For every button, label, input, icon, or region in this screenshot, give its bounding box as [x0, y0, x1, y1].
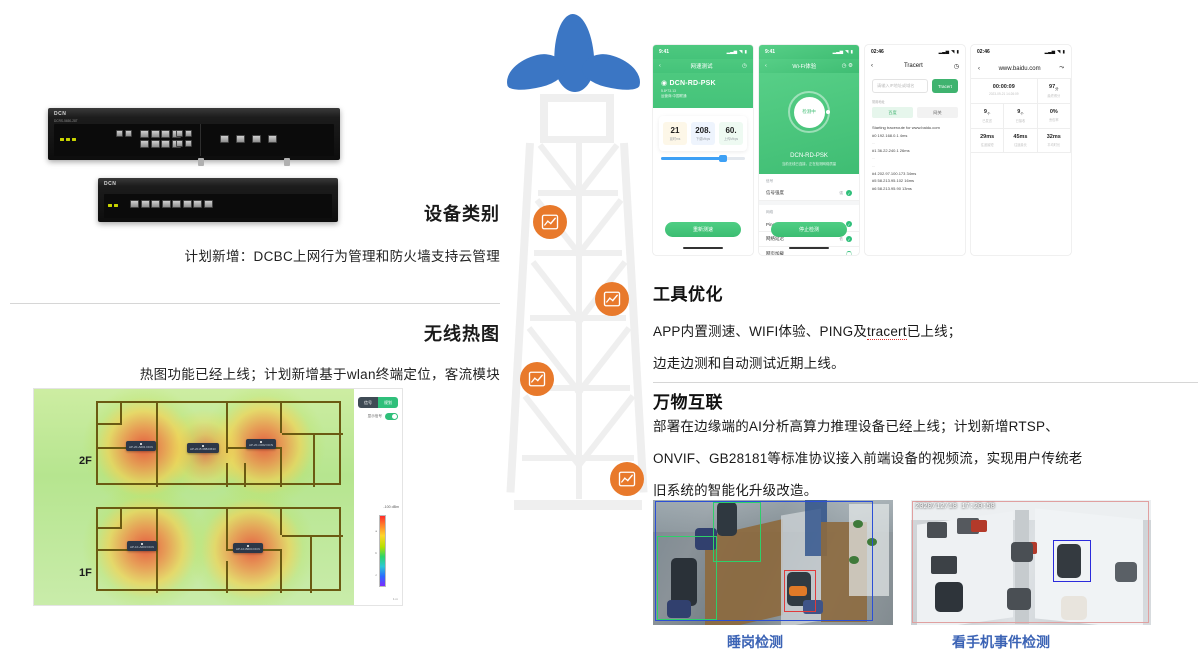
result-label: 丢包率 [1040, 117, 1068, 122]
camera-caption-phone-use-detection: 看手机事件检测 [952, 632, 1050, 652]
switch-port [252, 135, 261, 143]
tracert-input-row: 请输入IP地址或域名 Tracert [865, 73, 965, 99]
switch-sfp-port [185, 140, 192, 147]
switch-port-group-c [140, 140, 181, 148]
heatmap-mode-segmented[interactable]: 信号 规划 [358, 397, 398, 408]
tower-brace [538, 143, 580, 194]
metric-latency: 21 延时ms [663, 122, 687, 145]
camera-caption-sleep-detection: 睡岗检测 [727, 632, 783, 652]
result-value: 9个 [973, 109, 1001, 116]
retest-button[interactable]: 重新测速 [665, 222, 741, 237]
switch-port [183, 200, 192, 208]
wifi-icon: ◥ [845, 49, 848, 55]
switch-brand-label: DCN [54, 111, 66, 117]
detection-box-person [713, 502, 761, 562]
check-result [846, 251, 852, 255]
result-value: 32ms [1040, 134, 1068, 140]
status-icons: ▂▃▅ ◥ ▮ [833, 49, 853, 55]
back-icon[interactable]: ‹ [765, 63, 767, 69]
share-icon[interactable]: ⤳ [1059, 65, 1064, 72]
switch-handle [198, 158, 204, 166]
ssid-hero: ◉ DCN-RD-PSK 5.8*73.13 运营商:中国联通 [653, 73, 753, 108]
result-label: 2023-09-21 14:26:09 [973, 92, 1035, 96]
switch-module-ports [220, 135, 277, 143]
switch-port [140, 130, 149, 138]
heatmap-toggle-row[interactable]: 显示信号 [368, 413, 398, 420]
cellular-icon: ▂▃▅ [727, 49, 737, 55]
nav-actions[interactable]: ◷ ⚙ [842, 63, 853, 69]
heatmap-scale-max-label: -100 dBm [383, 505, 399, 509]
common-address-tabs: 百度 网关 [865, 107, 965, 122]
ap-marker[interactable]: AP-2F-C002 DCN [246, 439, 276, 449]
switch-led [60, 138, 64, 141]
result-cell-duration: 00:00:09 2023-09-21 14:26:09 [971, 79, 1038, 104]
check-label: 信号强度 [766, 190, 784, 196]
log-line: #0 192.168.0.1 4ms [872, 132, 958, 140]
result-cell-rtt-avg: 32ms 平均时长 [1038, 129, 1071, 153]
heatmap-color-scale [379, 515, 386, 587]
phone-wifi-experience: 9:41 ▂▃▅ ◥ ▮ ‹ Wi-Fi体验 ◷ ⚙ 检测中 [759, 45, 859, 255]
log-line: #1 36.22.240.1 26ms [872, 147, 958, 155]
check-value: 低 [839, 237, 843, 242]
ssid-name: DCN-RD-PSK [759, 153, 859, 159]
status-bar: 02:46 ▂▃▅ ◥ ▮ [971, 45, 1071, 59]
speed-slider-fill [661, 157, 721, 160]
result-value: 0% [1040, 109, 1068, 115]
check-ok-icon: ✓ [846, 221, 852, 227]
switch-unit-bottom: DCN [98, 178, 338, 222]
section-iot-line-2: ONVIF、GB28181等标准协议接入前端设备的视频流，实现用户传统老 [653, 447, 1083, 467]
check-label: 网页加载 [766, 251, 784, 255]
result-value: 9个 [1006, 109, 1034, 116]
metric-unit: 延时ms [665, 136, 685, 141]
battery-icon: ▮ [957, 49, 959, 55]
ap-marker-label: AP-2F-A001 DCN [129, 445, 153, 449]
switch-port [151, 200, 160, 208]
heatmap-mode-plan[interactable]: 规划 [378, 397, 398, 408]
chart-badge-4-icon [610, 462, 644, 496]
switch-faceplate [54, 124, 334, 156]
status-bar: 02:46 ▂▃▅ ◥ ▮ [865, 45, 965, 59]
heatmap-scale-tick: c [376, 573, 378, 577]
speed-slider[interactable] [661, 157, 745, 160]
status-icons: ▂▃▅ ◥ ▮ [939, 49, 959, 55]
switch-port-group [130, 200, 213, 208]
scan-status-text: 检测中 [794, 97, 825, 128]
switch-led [72, 138, 76, 141]
switch-sfp-port [185, 130, 192, 137]
speed-slider-knob[interactable] [719, 155, 727, 162]
switch-brand-label: DCN [104, 181, 116, 187]
signal-petal-top-icon [553, 13, 596, 92]
section-iot-line-1: 部署在边缘端的AI分析高算力推理设备已经上线；计划新增RTSP、 [653, 415, 1059, 435]
metric-unit: 下载Mbps [693, 136, 713, 141]
check-value: 强 [839, 191, 843, 196]
camera-image-phone-use-detection: 2020/12/18 17:20:58 [911, 500, 1151, 625]
scan-progress-pip [826, 110, 830, 114]
switch-port [193, 200, 202, 208]
loading-spinner-icon [846, 251, 852, 255]
phone-tracert: 02:46 ▂▃▅ ◥ ▮ ‹ Tracert ◷ 请输入IP地址或域名 Tra… [865, 45, 965, 255]
metric-unit: 上传Mbps [721, 136, 741, 141]
switch-sfp-group-top [176, 130, 192, 137]
section-body-device-category: 计划新增：DCBC上网行为管理和防火墙支持云管理 [185, 245, 500, 265]
phone-screenshot-row: 9:41 ▂▃▅ ◥ ▮ ‹ 网速测试 ◷ ◉ DCN-RD-PSK [653, 45, 1071, 255]
result-value: 97分 [1040, 84, 1068, 91]
tower-brace [578, 143, 620, 194]
tab-baidu[interactable]: 百度 [872, 107, 913, 118]
section-heading-device-category: 设备类别 [424, 200, 500, 226]
switch-led [108, 204, 112, 207]
switch-port [116, 130, 123, 137]
detection-box-region [912, 501, 1149, 623]
tab-gateway[interactable]: 网关 [917, 107, 958, 118]
check-row-signal-strength[interactable]: 信号强度 强 ✓ [759, 186, 859, 201]
result-label: 往返最长 [1006, 142, 1034, 147]
ssid-sub-2: 运营商:中国联通 [653, 94, 753, 99]
nav-title: www.baidu.com [999, 66, 1041, 72]
wifi-hero: 检测中 DCN-RD-PSK 当前无线已连接，正在检测网络质量 [759, 73, 859, 174]
group-title-signal: 信号 [759, 174, 859, 186]
detection-box-person [657, 536, 717, 620]
switch-sfp-port [176, 130, 183, 137]
device-photo: DCN DCRS-5650-28T [40, 100, 340, 230]
back-icon[interactable]: ‹ [659, 63, 661, 69]
right-column: 9:41 ▂▃▅ ◥ ▮ ‹ 网速测试 ◷ ◉ DCN-RD-PSK [645, 0, 1200, 656]
switch-port [161, 140, 170, 148]
switch-sfp-port [176, 140, 183, 147]
switch-port-group-b [140, 130, 181, 138]
switch-port [220, 135, 229, 143]
heatmap-scale-unit: 1 m [393, 597, 398, 601]
ap-marker-label: AP-2F-B 08823633 [190, 447, 216, 451]
ssid-sub: 当前无线已连接，正在检测网络质量 [759, 161, 859, 166]
nav-title: Wi-Fi体验 [792, 62, 816, 70]
result-cell-sent: 9个 已发送 [971, 104, 1004, 129]
slide-canvas: DCN DCRS-5650-28T [0, 0, 1200, 656]
result-label: 已发送 [973, 118, 1001, 123]
tower-base [514, 500, 642, 510]
section-title-iot: 万物互联 [653, 388, 723, 413]
battery-icon: ▮ [1063, 49, 1065, 55]
ap-marker-label: AP-1F-A003 DCN [130, 545, 154, 549]
switch-led [114, 204, 118, 207]
heatmap-signal-toggle[interactable] [385, 413, 398, 420]
metric-download: 208. 下载Mbps [691, 122, 715, 145]
nav-bar: ‹ www.baidu.com ⤳ [971, 59, 1071, 79]
log-line: #4 202.97.100.173 34ms [872, 170, 958, 178]
section-heading-wireless-heatmap: 无线热图 [424, 320, 500, 346]
switch-port [151, 130, 160, 138]
phone-speed-test: 9:41 ▂▃▅ ◥ ▮ ‹ 网速测试 ◷ ◉ DCN-RD-PSK [653, 45, 753, 255]
switch-port [204, 200, 213, 208]
result-cell-received: 9个 已接收 [1004, 104, 1037, 129]
result-value: 00:00:09 [973, 84, 1035, 90]
check-result: 低 ✓ [839, 236, 852, 242]
heatmap-side-panel: 信号 规划 显示信号 -100 dBm a b c 1 m [354, 389, 402, 605]
home-indicator [683, 247, 723, 249]
result-label: 往返最短 [973, 142, 1001, 147]
log-line: ... [872, 162, 958, 170]
switch-port [130, 200, 139, 208]
switch-port [268, 135, 277, 143]
back-icon[interactable]: ‹ [871, 63, 873, 69]
cellular-icon: ▂▃▅ [939, 49, 949, 55]
ap-marker[interactable]: AP-1F-A003 DCN [127, 541, 157, 551]
cellular-icon: ▂▃▅ [1045, 49, 1055, 55]
log-line: Starting traceroute for www.baidu.com [872, 124, 958, 132]
check-ok-icon: ✓ [846, 236, 852, 242]
ap-marker[interactable]: AP-1F-B004 DCN [233, 543, 263, 553]
section-title-tools: 工具优化 [653, 280, 723, 305]
switch-led-group [60, 138, 76, 141]
nav-bar: ‹ Tracert ◷ [865, 59, 965, 73]
status-time: 9:41 [765, 49, 775, 55]
camera-timestamp: 2020/12/18 17:20:58 [915, 503, 995, 511]
tracert-run-button[interactable]: Tracert [932, 79, 958, 93]
log-line: ... [872, 139, 958, 147]
metric-upload: 60. 上传Mbps [719, 122, 743, 145]
camera-image-sleep-detection [653, 500, 893, 625]
speed-metrics: 21 延时ms 208. 下载Mbps 60. 上传Mbps [659, 116, 747, 151]
result-label: 平均时长 [1040, 142, 1068, 147]
switch-model-label: DCRS-5650-28T [54, 119, 78, 123]
cellular-icon: ▂▃▅ [833, 49, 843, 55]
scan-progress-ring: 检测中 [788, 91, 830, 133]
result-cell-score: 97分 最终得分 [1038, 79, 1071, 104]
left-column: DCN DCRS-5650-28T [0, 0, 510, 656]
result-cell-rtt-min: 29ms 往返最短 [971, 129, 1004, 153]
chart-badge-3-icon [520, 362, 554, 396]
ap-marker[interactable]: AP-2F-B 08823633 [187, 443, 219, 453]
camera-image-row: 2020/12/18 17:20:58 [653, 500, 1151, 625]
nav-title: Tracert [904, 63, 923, 69]
tools-text-c: 已上线； [907, 324, 962, 339]
section-body-wireless-heatmap: 热图功能已经上线；计划新增基于wlan终端定位，客流模块 [140, 363, 500, 383]
wifi-dot-icon: ◉ [661, 80, 667, 87]
metric-value: 21 [665, 126, 685, 135]
stop-test-button[interactable]: 停止检测 [771, 222, 847, 237]
switch-port [141, 200, 150, 208]
check-result: 强 ✓ [839, 190, 852, 196]
wifi-icon: ◥ [951, 49, 954, 55]
wireless-heatmap-screenshot: 2F 1F [33, 388, 403, 606]
switch-port [172, 200, 181, 208]
floor-label-2f: 2F [79, 455, 92, 467]
status-time: 02:46 [977, 49, 990, 55]
tools-text-tracert: tracert [867, 324, 907, 340]
tools-text-a: APP内置测速、WIFI体验、PING及 [653, 324, 867, 339]
heatmap-canvas: 2F 1F [34, 389, 356, 605]
history-icon[interactable]: ◷ [742, 63, 747, 69]
section-iot-line-3: 旧系统的智能化升级改造。 [653, 479, 817, 499]
group-title-network: 网络 [759, 205, 859, 217]
result-label: 已接收 [1006, 118, 1034, 123]
result-value: 45ms [1006, 134, 1034, 140]
tracert-target-input[interactable]: 请输入IP地址或域名 [872, 79, 928, 93]
ap-marker-label: AP-1F-B004 DCN [236, 547, 260, 551]
result-cell-rtt-max: 45ms 往返最长 [1004, 129, 1037, 153]
ap-marker-label: AP-2F-C002 DCN [249, 443, 273, 447]
status-icons: ▂▃▅ ◥ ▮ [1045, 49, 1065, 55]
ssid-name: ◉ DCN-RD-PSK [653, 73, 753, 89]
metric-value: 60. [721, 126, 741, 135]
tracert-log: Starting traceroute for www.baidu.com #0… [865, 122, 965, 194]
switch-led [66, 138, 70, 141]
chart-badge-2-icon [595, 282, 629, 316]
floor-label-1f: 1F [79, 567, 92, 579]
switch-port [151, 140, 160, 148]
check-ok-icon: ✓ [846, 190, 852, 196]
history-icon[interactable]: ◷ [954, 63, 959, 70]
phone-page-load-test: 02:46 ▂▃▅ ◥ ▮ ‹ www.baidu.com ⤳ 00:00:09 [971, 45, 1071, 255]
detection-box-alert [784, 570, 816, 612]
battery-icon: ▮ [851, 49, 853, 55]
switch-panel-divider [200, 124, 201, 156]
chart-badge-1-icon [533, 205, 567, 239]
log-line: #5 58.213.95.102 16ms [872, 177, 958, 185]
status-icons: ▂▃▅ ◥ ▮ [727, 49, 747, 55]
status-time: 9:41 [659, 49, 669, 55]
result-cell-loss: 0% 丢包率 [1038, 104, 1071, 129]
log-line: ... [872, 154, 958, 162]
section-tools-line-2: 边走边测和自动测试近期上线。 [653, 352, 845, 372]
switch-port [236, 135, 245, 143]
tower-center-post [576, 143, 582, 499]
switch-port-group-a [116, 130, 132, 137]
heatmap-scale-tick: a [375, 529, 377, 533]
switch-unit-top: DCN DCRS-5650-28T [48, 108, 340, 160]
section-divider [653, 382, 1198, 383]
status-bar: 9:41 ▂▃▅ ◥ ▮ [653, 45, 753, 59]
switch-led-group [108, 204, 118, 207]
common-address-label: 常用地址 [865, 99, 965, 107]
wifi-icon: ◥ [739, 49, 742, 55]
switch-port [161, 130, 170, 138]
scan-progress-ring-wrap: 检测中 [759, 73, 859, 151]
heatmap-toggle-label: 显示信号 [368, 414, 382, 419]
heatmap-mode-signal[interactable]: 信号 [358, 397, 378, 408]
ap-marker[interactable]: AP-2F-A001 DCN [126, 441, 156, 451]
tower-crossbar [540, 94, 614, 102]
switch-port [140, 140, 149, 148]
result-grid: 00:00:09 2023-09-21 14:26:09 97分 最终得分 9个 [971, 79, 1071, 153]
section-divider [10, 303, 500, 304]
switch-handle [284, 158, 290, 166]
switch-port [125, 130, 132, 137]
battery-icon: ▮ [745, 49, 747, 55]
signal-tower-graphic [492, 0, 662, 530]
heatmap-scale-tick: b [375, 551, 377, 555]
wifi-icon: ◥ [1057, 49, 1060, 55]
metric-value: 208. [693, 126, 713, 135]
tower-crossbar [540, 136, 614, 143]
detection-box-phone-use [1053, 540, 1091, 582]
log-line: #6 58.213.95.90 13ms [872, 185, 958, 193]
back-icon[interactable]: ‹ [978, 66, 980, 72]
nav-bar: ‹ Wi-Fi体验 ◷ ⚙ [759, 59, 859, 73]
status-time: 02:46 [871, 49, 884, 55]
nav-title: 网速测试 [691, 62, 713, 70]
result-value: 29ms [973, 134, 1001, 140]
switch-port [162, 200, 171, 208]
section-tools-line-1: APP内置测速、WIFI体验、PING及tracert已上线； [653, 320, 962, 340]
switch-sfp-group-bot [176, 140, 192, 147]
status-bar: 9:41 ▂▃▅ ◥ ▮ [759, 45, 859, 59]
home-indicator [789, 247, 829, 249]
result-label: 最终得分 [1040, 93, 1068, 98]
nav-bar: ‹ 网速测试 ◷ [653, 59, 753, 73]
